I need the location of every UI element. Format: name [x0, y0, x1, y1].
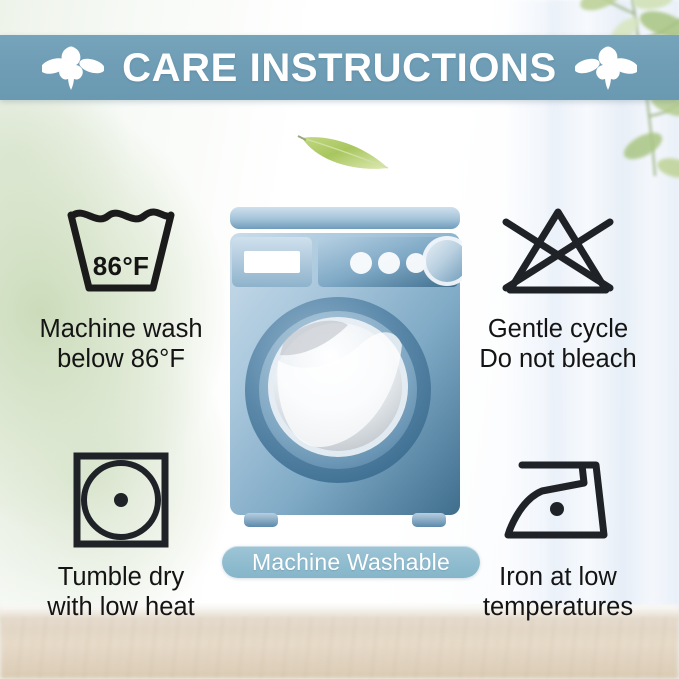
care-symbol-caption: Iron at low temperatures: [443, 562, 673, 622]
triangle-crossed-icon-container: [443, 196, 673, 308]
badge-label: Machine Washable: [252, 551, 450, 574]
care-symbol-machine-wash: 86°F Machine wash below 86°F: [6, 196, 236, 374]
wash-tub-icon: 86°F: [62, 204, 180, 300]
floating-leaf-icon: [296, 124, 394, 176]
care-symbol-iron-low: Iron at low temperatures: [443, 444, 673, 622]
care-symbol-caption: Tumble dry with low heat: [6, 562, 236, 622]
care-symbol-caption: Gentle cycle Do not bleach: [443, 314, 673, 374]
wash-temperature-value: 86°F: [62, 251, 180, 282]
care-symbol-caption: Machine wash below 86°F: [6, 314, 236, 374]
triangle-crossed-icon: [496, 204, 620, 300]
iron-one-dot-icon-container: [443, 444, 673, 556]
fleur-de-lis-right-icon: [575, 44, 637, 92]
background-table-grain: [0, 617, 679, 679]
tumble-dry-low-icon: [70, 450, 172, 550]
iron-one-dot-icon: [498, 455, 618, 545]
care-instructions-poster: CARE INSTRUCTIONS 86°F Machi: [0, 0, 679, 679]
care-symbol-tumble-dry: Tumble dry with low heat: [6, 444, 236, 622]
machine-washable-badge: Machine Washable: [222, 546, 480, 578]
tumble-dry-low-icon-container: [6, 444, 236, 556]
page-title: CARE INSTRUCTIONS: [122, 48, 557, 88]
care-symbol-do-not-bleach: Gentle cycle Do not bleach: [443, 196, 673, 374]
washing-machine-illustration: [228, 205, 462, 535]
header-banner: CARE INSTRUCTIONS: [0, 35, 679, 100]
fleur-de-lis-left-icon: [42, 44, 104, 92]
wash-tub-icon-container: 86°F: [6, 196, 236, 308]
